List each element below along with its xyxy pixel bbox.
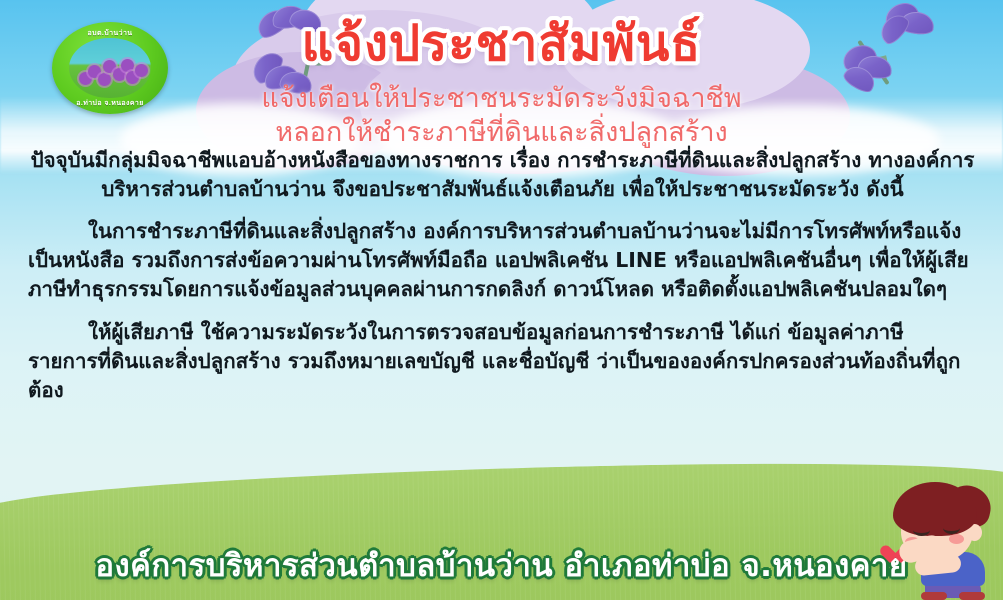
bowing-boy-character — [863, 480, 995, 598]
announcement-poster: อบต.บ้านว่าน อ.ท่าบ่อ จ.หนองคาย แจ้งประช… — [0, 0, 1003, 600]
boy-shoe-left — [921, 592, 947, 600]
boy-shoe-right — [959, 592, 985, 600]
paragraph-1: ปัจจุบันมีกลุ่มมิจฉาชีพแอบอ้างหนังสือของ… — [28, 146, 977, 204]
page-subtitle: แจ้งเตือนให้ประชาชนระมัดระวังมิจฉาชีพ หล… — [0, 82, 1003, 150]
boy-eye-left — [913, 524, 930, 536]
footer-organization-name: องค์การบริหารส่วนตำบลบ้านว่าน อำเภอท่าบ่… — [0, 540, 1003, 590]
subtitle-line-2: หลอกให้ชำระภาษีที่ดินและสิ่งปลูกสร้าง — [0, 116, 1003, 150]
subtitle-line-1: แจ้งเตือนให้ประชาชนระมัดระวังมิจฉาชีพ — [0, 82, 1003, 116]
page-title: แจ้งประชาสัมพันธ์ — [0, 18, 1003, 69]
boy-cheek-right — [949, 534, 964, 544]
boy-eye-right — [943, 522, 960, 534]
body-content: ปัจจุบันมีกลุ่มมิจฉาชีพแอบอ้างหนังสือของ… — [28, 146, 977, 418]
heart-icon — [881, 546, 901, 565]
paragraph-2: ในการชำระภาษีที่ดินและสิ่งปลูกสร้าง องค์… — [28, 217, 977, 304]
paragraph-3: ให้ผู้เสียภาษี ใช้ความระมัดระวังในการตรว… — [28, 318, 977, 405]
